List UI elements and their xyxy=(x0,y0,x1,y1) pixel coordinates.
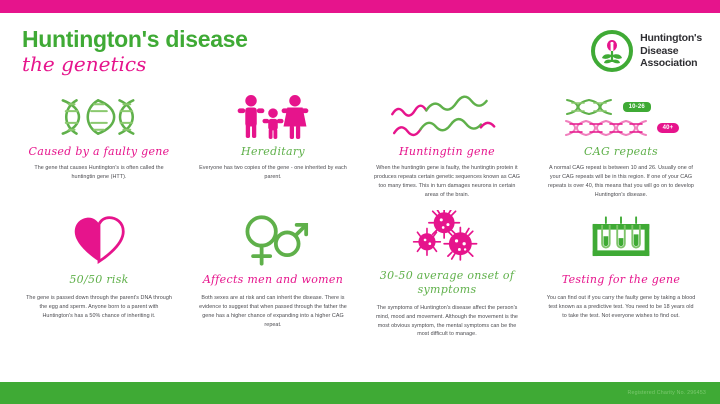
dna-short-icon xyxy=(563,98,615,116)
logo-line-1: Huntington's xyxy=(640,32,702,44)
card-hereditary: Hereditary Everyone has two copies of th… xyxy=(188,91,358,209)
top-accent-bar xyxy=(0,0,720,13)
test-tube-rack-icon xyxy=(587,209,655,271)
card-title: Testing for the gene xyxy=(562,273,680,286)
card-title: Hereditary xyxy=(241,145,305,158)
card-title: 30-50 average onset of symptoms xyxy=(370,269,524,296)
footer-bar: Registered Charity No. 296453 xyxy=(0,382,720,404)
card-affects-men-and-women: Affects men and women Both sexes are at … xyxy=(188,209,358,339)
cag-repeats-icon: 10-26 xyxy=(563,91,680,143)
card-body: The gene that causes Huntington's is oft… xyxy=(24,164,174,182)
card-body: A normal CAG repeat is between 10 and 26… xyxy=(546,164,696,199)
card-body: You can find out if you carry the faulty… xyxy=(546,294,696,320)
charity-number: Registered Charity No. 296453 xyxy=(627,390,706,396)
card-onset-of-symptoms: 30-50 average onset of symptoms The symp… xyxy=(362,209,532,339)
badge-expanded-range: 40+ xyxy=(657,123,680,133)
header: Huntington's disease the genetics xyxy=(10,13,710,91)
card-body: Everyone has two copies of the gene - on… xyxy=(198,164,348,182)
dna-helix-icon xyxy=(55,91,143,143)
page-subtitle: the genetics xyxy=(22,52,248,77)
logo-line-2: Disease xyxy=(640,45,678,57)
half-heart-icon xyxy=(71,209,127,271)
title-block: Huntington's disease the genetics xyxy=(22,27,248,77)
venus-mars-icon xyxy=(237,209,309,271)
badge-normal-range: 10-26 xyxy=(623,102,651,112)
cag-normal-row: 10-26 xyxy=(563,98,680,116)
cag-expanded-row: 40+ xyxy=(563,119,680,137)
hda-flower-logo-icon xyxy=(591,30,633,72)
family-figures-icon xyxy=(230,91,316,143)
card-faulty-gene: Caused by a faulty gene The gene that ca… xyxy=(14,91,184,209)
card-title: 50/50 risk xyxy=(69,273,128,286)
card-cag-repeats: 10-26 xyxy=(536,91,706,209)
card-title: CAG repeats xyxy=(584,145,658,158)
card-body: The symptoms of Huntington's disease aff… xyxy=(372,304,522,339)
neuron-cells-icon xyxy=(406,209,488,267)
card-fifty-fifty-risk: 50/50 risk The gene is passed down throu… xyxy=(14,209,184,339)
logo-wordmark: Huntington's Disease Association xyxy=(640,32,702,69)
facts-grid: Caused by a faulty gene The gene that ca… xyxy=(10,91,710,339)
page-title: Huntington's disease xyxy=(22,27,248,51)
dna-long-icon xyxy=(563,119,649,137)
card-title: Caused by a faulty gene xyxy=(29,145,170,158)
infographic-content: Huntington's disease the genetics xyxy=(0,13,720,382)
card-title: Affects men and women xyxy=(203,273,343,286)
card-huntingtin-gene: Huntingtin gene When the huntingtin gene… xyxy=(362,91,532,209)
logo-line-3: Association xyxy=(640,57,697,69)
card-testing-for-the-gene: Testing for the gene You can find out if… xyxy=(536,209,706,339)
card-body: The gene is passed down through the pare… xyxy=(24,294,174,320)
protein-strands-icon xyxy=(381,91,513,143)
card-body: When the huntingtin gene is faulty, the … xyxy=(372,164,522,199)
infographic-page: Huntington's disease the genetics xyxy=(0,0,720,404)
organisation-logo: Huntington's Disease Association xyxy=(591,30,702,72)
card-body: Both sexes are at risk and can inherit t… xyxy=(198,294,348,329)
card-title: Huntingtin gene xyxy=(399,145,495,158)
